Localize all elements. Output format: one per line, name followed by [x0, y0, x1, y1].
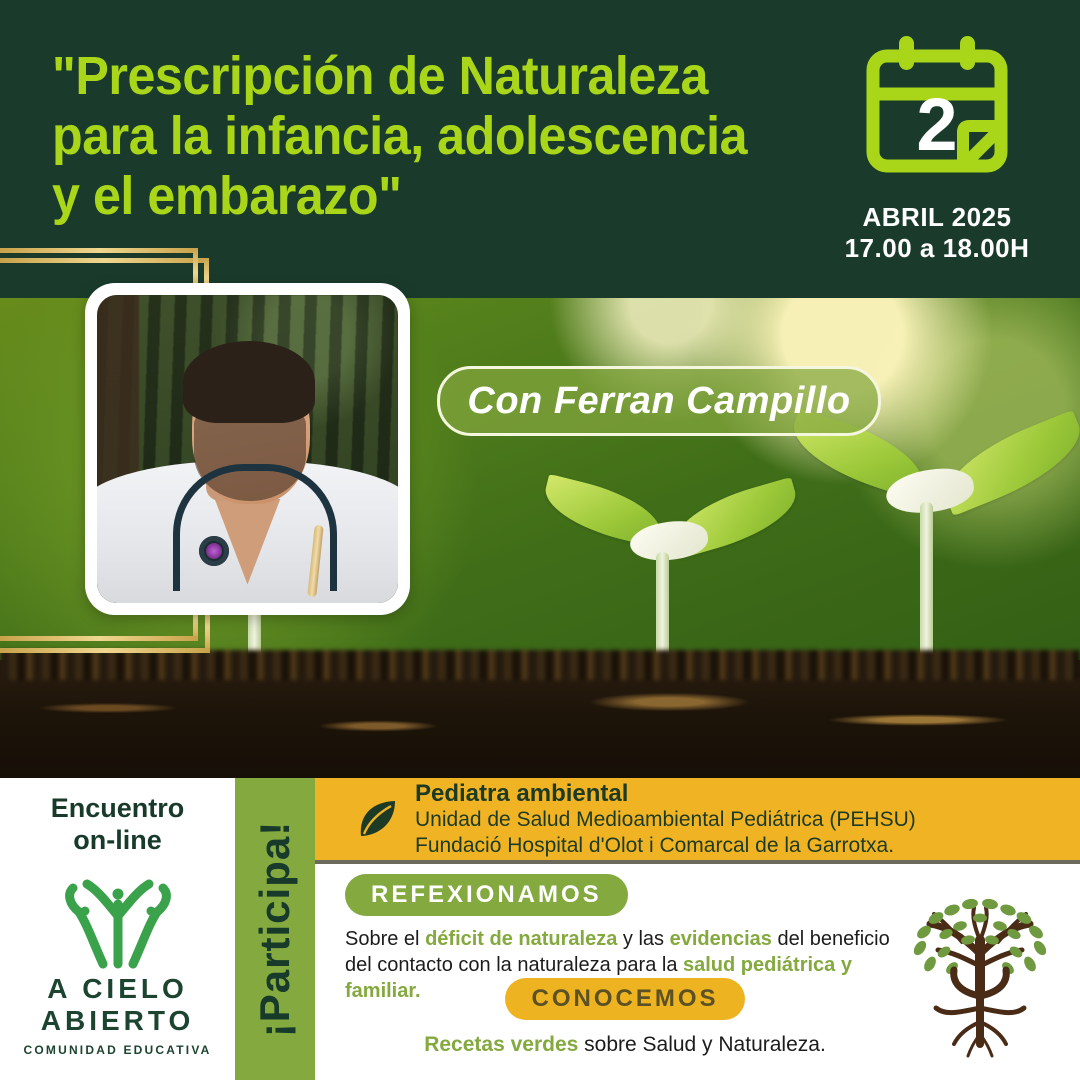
- brand-name: A CIELO ABIERTO: [0, 973, 235, 1037]
- section-conocemos-text: Recetas verdes sobre Salud y Naturaleza.: [315, 1032, 935, 1058]
- header-banner: "Prescripción de Naturaleza para la infa…: [0, 0, 1080, 298]
- speaker-name: Con Ferran Campillo: [467, 380, 850, 423]
- speaker-photo-card: [85, 283, 410, 615]
- credentials-text: Pediatra ambiental Unidad de Salud Medio…: [415, 780, 916, 859]
- tag-conocemos: CONOCEMOS: [505, 978, 744, 1020]
- speaker-name-badge: Con Ferran Campillo: [437, 366, 881, 436]
- content-column: Pediatra ambiental Unidad de Salud Medio…: [315, 778, 1080, 1080]
- soil-strip: [0, 660, 1080, 780]
- hair: [183, 341, 315, 423]
- event-month-year: ABRIL 2025: [832, 202, 1042, 233]
- credentials-band: Pediatra ambiental Unidad de Salud Medio…: [315, 778, 1080, 864]
- brand-heading: Encuentro on-line: [0, 792, 235, 856]
- credentials-institution: Fundació Hospital d'Olot i Comarcal de l…: [415, 833, 916, 859]
- event-date-text: ABRIL 2025 17.00 a 18.00H: [832, 202, 1042, 264]
- speaker-portrait: [97, 295, 398, 603]
- credentials-unit: Unidad de Salud Medioambiental Pediátric…: [415, 807, 916, 833]
- brand-tagline: COMUNIDAD EDUCATIVA: [0, 1043, 235, 1057]
- page-title: "Prescripción de Naturaleza para la infa…: [52, 46, 796, 226]
- participate-label: ¡Participa!: [251, 821, 299, 1037]
- tag-refexionamos: REFEXIONAMOS: [345, 874, 628, 916]
- event-time: 17.00 a 18.00H: [832, 233, 1042, 264]
- calendar-icon: 2: [857, 30, 1017, 190]
- leaf-icon: [355, 796, 401, 842]
- event-date-block: 2 ABRIL 2025 17.00 a 18.00H: [832, 30, 1042, 264]
- credentials-role: Pediatra ambiental: [415, 780, 916, 807]
- bottom-section: Encuentro on-line: [0, 778, 1080, 1080]
- heart-tree-logo: [890, 874, 1070, 1064]
- poster-root: "Prescripción de Naturaleza para la infa…: [0, 0, 1080, 1080]
- calendar-day-number: 2: [857, 88, 1017, 162]
- participate-banner: ¡Participa!: [235, 778, 315, 1080]
- section-conocemos: CONOCEMOS Recetas verdes sobre Salud y N…: [315, 978, 935, 1058]
- brand-column: Encuentro on-line: [0, 778, 235, 1080]
- people-tree-logo: [53, 864, 183, 969]
